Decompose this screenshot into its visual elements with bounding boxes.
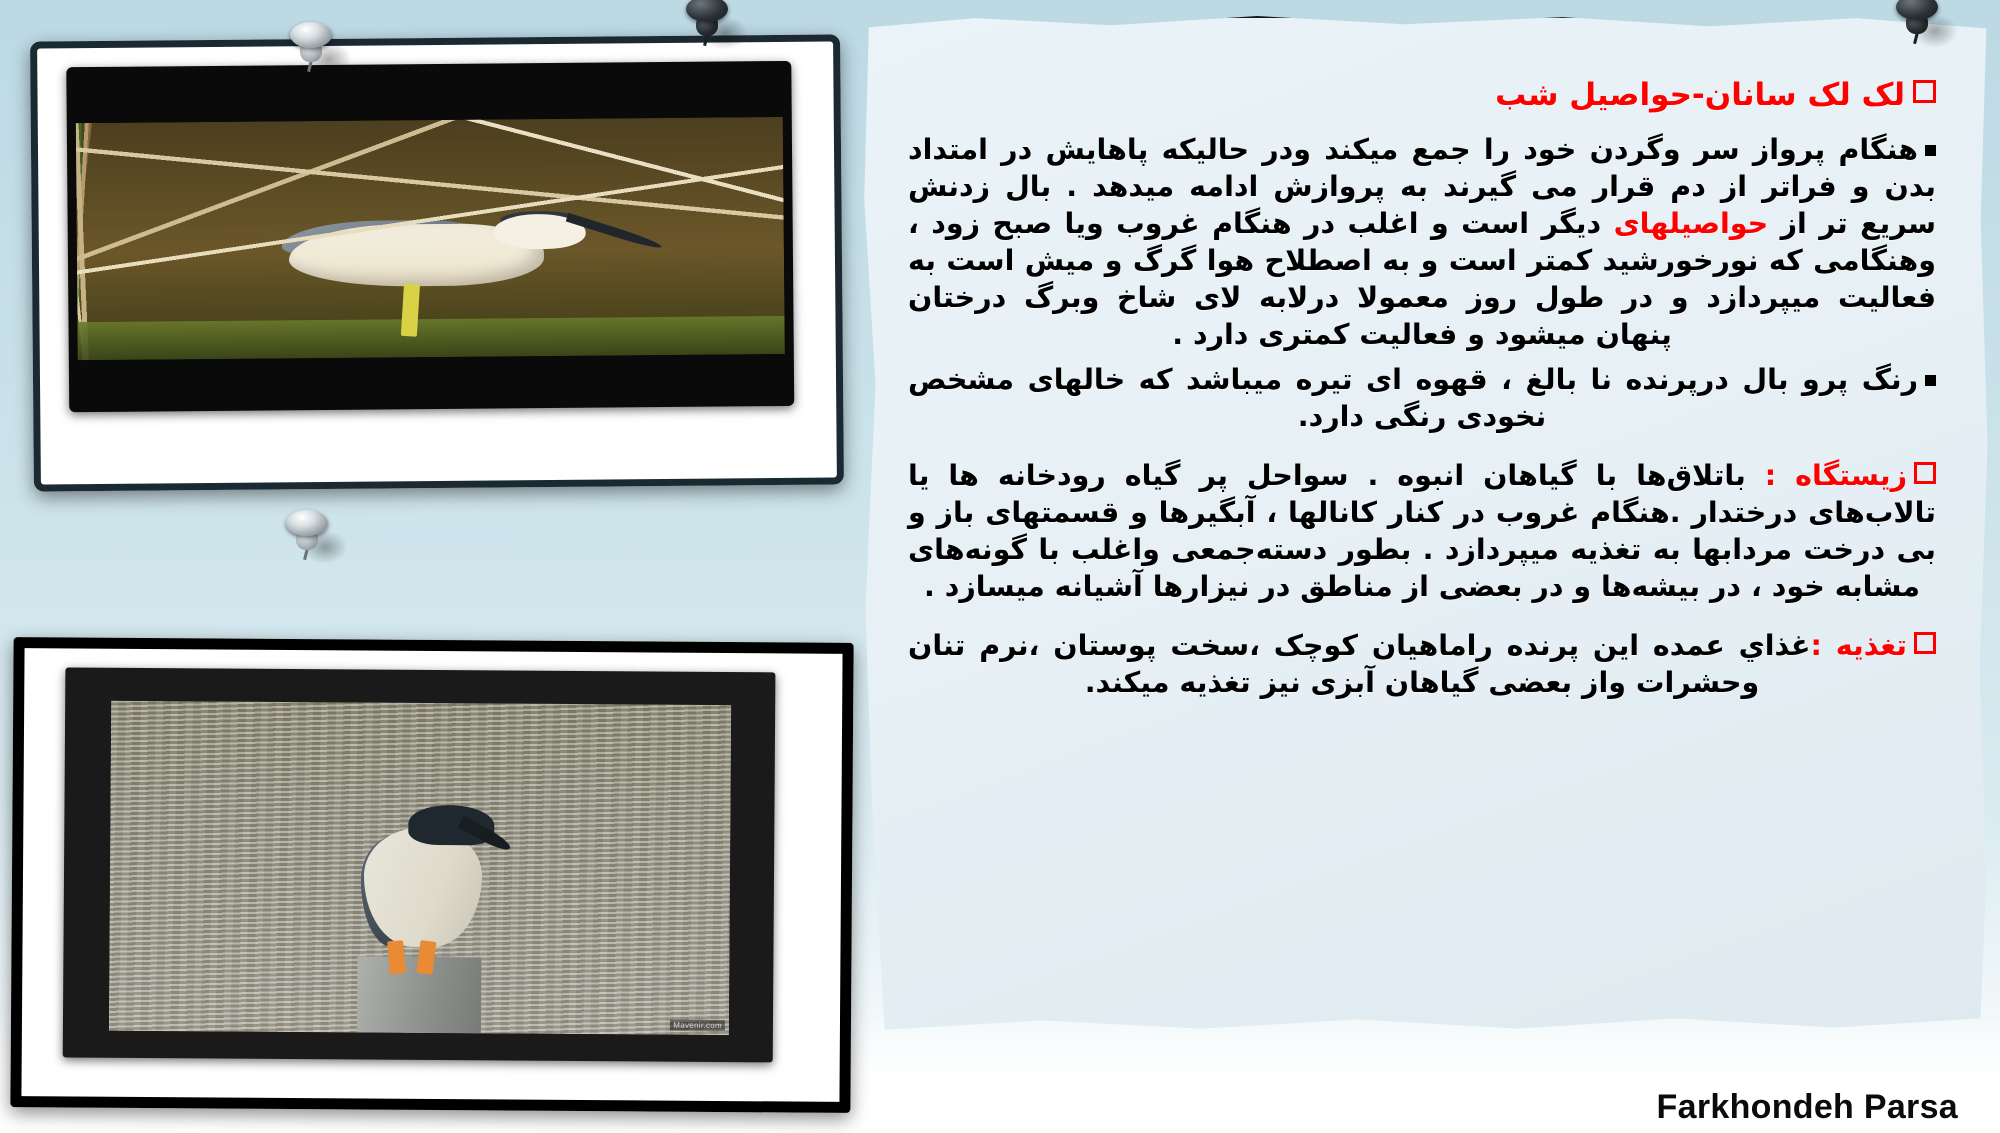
paragraph-plumage: رنگ پرو بال درپرنده نا بالغ ، قهوه ای تی… bbox=[908, 361, 1936, 435]
photo-column: Mavenir.com bbox=[0, 0, 880, 1133]
section-label-habitat: زیستگاه : bbox=[1765, 459, 1907, 492]
tv-bezel-top bbox=[66, 61, 794, 412]
square-bullet-icon bbox=[1914, 632, 1936, 654]
page-title: لک لک سانان-حواصیل شب bbox=[908, 76, 1936, 115]
square-bullet-icon bbox=[1913, 80, 1936, 103]
run-text: غذاي عمده این پرنده راماهیان کوچک ،سخت پ… bbox=[908, 629, 1810, 699]
text-note-panel: لک لک سانان-حواصیل شب هنگام پرواز سر وگر… bbox=[862, 14, 1992, 1041]
pushpin-icon bbox=[278, 510, 342, 568]
paragraph-diet: تغذيه :غذاي عمده این پرنده راماهیان کوچک… bbox=[908, 627, 1936, 701]
photo-top bbox=[76, 117, 785, 360]
paragraph-habitat: زیستگاه : باتلاق‌ها با گیاهان انبوه . سو… bbox=[908, 457, 1936, 605]
tv-bezel-bottom: Mavenir.com bbox=[63, 667, 776, 1062]
photo-bottom: Mavenir.com bbox=[109, 701, 731, 1035]
section-label-diet: تغذيه : bbox=[1810, 629, 1907, 662]
photo-watermark: Mavenir.com bbox=[670, 1020, 725, 1031]
run-text: رنگ پرو بال درپرنده نا بالغ ، قهوه ای تی… bbox=[908, 363, 1918, 433]
bullet-icon bbox=[1925, 375, 1936, 386]
paragraph-flight-behaviour: هنگام پرواز سر وگردن خود را جمع میکند ود… bbox=[908, 131, 1936, 353]
run-highlight: حواصیلهای bbox=[1614, 207, 1769, 240]
square-bullet-icon bbox=[1914, 462, 1936, 484]
author-signature: Farkhondeh Parsa bbox=[1657, 1088, 1958, 1127]
photo-frame-bottom[interactable]: Mavenir.com bbox=[10, 637, 853, 1113]
bullet-icon bbox=[1925, 145, 1936, 156]
page-title-text: لک لک سانان-حواصیل شب bbox=[1495, 77, 1905, 113]
photo-frame-top[interactable] bbox=[30, 34, 844, 491]
